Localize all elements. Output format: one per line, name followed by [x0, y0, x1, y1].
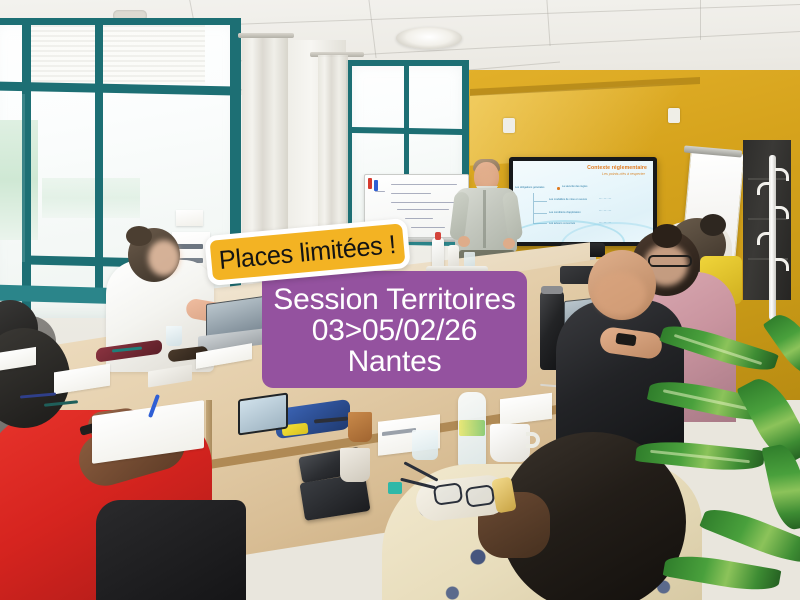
whiteboard-writing — [391, 193, 431, 194]
ceiling-downlight — [396, 27, 462, 49]
participant-bald — [556, 300, 684, 450]
presenter-hand — [458, 236, 470, 247]
window-glass-foliage — [42, 178, 140, 218]
slide-node-text: — . — . — — [599, 197, 639, 200]
whiteboard-marker — [374, 180, 378, 191]
drinking-glass — [166, 326, 182, 346]
whiteboard-writing — [411, 227, 445, 228]
ceiling-tile-seam — [700, 0, 701, 40]
participant-white-shirt-bun — [126, 226, 152, 246]
slide-connector — [533, 213, 547, 214]
slide-connector — [533, 193, 534, 223]
window-frame-mullion — [95, 18, 103, 294]
slide-bullet-dot — [557, 187, 560, 190]
wall-socket — [503, 118, 515, 133]
slide-node-text: Les conditions d'application — [549, 211, 593, 214]
whiteboard-writing — [391, 184, 457, 185]
slide-title: Contexte réglementaire — [587, 165, 647, 171]
shelving-unit — [743, 140, 791, 300]
wall-display-screen: Contexte réglementaire Les points-clés à… — [513, 161, 653, 242]
hand-sanitiser-bottle — [432, 238, 444, 268]
presenter-shirt-placket — [483, 190, 486, 248]
window-curtain — [318, 55, 348, 250]
hair-bun — [652, 224, 682, 248]
curtain-rail — [238, 33, 294, 38]
participant-white-shirt-face — [148, 240, 180, 276]
bottle-cap — [541, 286, 563, 294]
presenter-face — [477, 168, 496, 188]
notice-text-line — [177, 244, 203, 249]
whiteboard-writing — [391, 202, 461, 203]
slide-subtitle: Les points-clés à respecter — [602, 172, 645, 176]
window-frame-bar — [22, 94, 25, 262]
eyeglasses — [648, 255, 692, 267]
whiteboard-writing — [405, 218, 433, 219]
drinking-glass — [412, 430, 438, 460]
bottle-label — [459, 420, 485, 436]
whiteboard-writing — [375, 191, 385, 192]
slide-node-text: Les modalités de mise en oeuvre — [549, 198, 595, 201]
session-info-panel[interactable]: Session Territoires 03>05/02/26 Nantes — [262, 271, 527, 388]
coffee-cup — [348, 412, 372, 442]
sticky-note — [388, 482, 402, 494]
sanitiser-pump-icon — [435, 232, 441, 240]
slide-node-text: — . — . — — [599, 209, 639, 212]
white-mug — [490, 424, 530, 462]
panel-line-dates: 03>05/02/26 — [312, 315, 477, 346]
window-frame-bar — [0, 18, 240, 25]
panel-line-session: Session Territoires — [273, 284, 515, 315]
coffee-cup — [340, 448, 370, 482]
wall-socket — [668, 108, 680, 123]
promo-image: Contexte réglementaire Les points-clés à… — [0, 0, 800, 600]
tablet-device — [238, 392, 288, 435]
coat-hook-icon — [757, 182, 771, 195]
hair-bun — [700, 214, 726, 236]
panel-line-city: Nantes — [348, 346, 442, 377]
presenter-hand — [503, 238, 515, 249]
whiteboard-marker — [368, 178, 372, 189]
window-blind — [30, 22, 205, 84]
badge-label: Places limitées ! — [218, 229, 397, 276]
slide-node-text: La sécurité des règles — [562, 185, 648, 188]
wall-notice — [176, 210, 203, 226]
coat-hook-icon — [757, 232, 771, 245]
slide-node-text: Les obligations générales — [515, 186, 555, 189]
participant-red-shirt-trousers — [96, 500, 246, 600]
participant-bald-face — [594, 272, 646, 316]
slide-connector — [533, 201, 547, 202]
whiteboard-writing — [397, 209, 449, 210]
window-glass-foliage — [0, 120, 38, 240]
